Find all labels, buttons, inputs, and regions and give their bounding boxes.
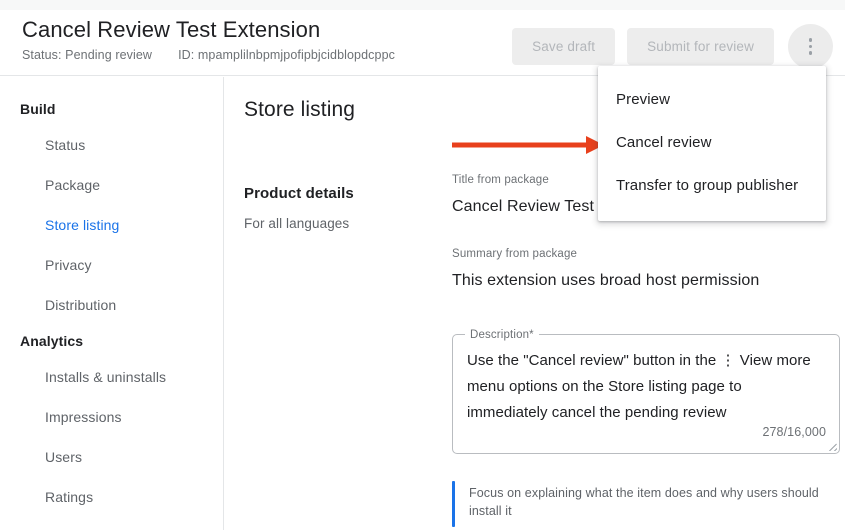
sidebar-item-impressions[interactable]: Impressions	[0, 397, 223, 437]
sidebar-item-distribution[interactable]: Distribution	[0, 285, 223, 325]
sidebar-item-installs-uninstalls[interactable]: Installs & uninstalls	[0, 357, 223, 397]
sidebar-section-title-analytics: Analytics	[0, 325, 223, 357]
product-details-column: Product details For all languages	[244, 183, 434, 233]
save-draft-button[interactable]: Save draft	[512, 28, 615, 65]
dot	[809, 45, 813, 49]
sidebar-item-users[interactable]: Users	[0, 437, 223, 477]
product-details-fields: Title from package Cancel Review Test Ex…	[452, 172, 832, 527]
description-hint: Focus on explaining what the item does a…	[452, 481, 840, 527]
status-badge: Status: Pending review	[22, 47, 152, 64]
sidebar-item-package[interactable]: Package	[0, 165, 223, 205]
submit-for-review-button[interactable]: Submit for review	[627, 28, 774, 65]
summary-from-package-label: Summary from package	[452, 246, 832, 262]
dot	[809, 51, 813, 55]
hint-text: Focus on explaining what the item does a…	[469, 481, 840, 527]
view-more-options-menu: Preview Cancel review Transfer to group …	[598, 66, 826, 221]
resize-handle-icon[interactable]	[827, 441, 837, 451]
extension-dashboard-page: Cancel Review Test Extension Status: Pen…	[0, 0, 845, 530]
sidebar-section-build: Build Status Package Store listing Priva…	[0, 93, 223, 325]
sidebar-section-analytics: Analytics Installs & uninstalls Impressi…	[0, 325, 223, 517]
more-options-icon[interactable]	[788, 24, 833, 69]
header-title-group: Cancel Review Test Extension Status: Pen…	[22, 16, 395, 64]
description-field[interactable]: Description* Use the "Cancel review" but…	[452, 334, 840, 454]
page-title: Cancel Review Test Extension	[22, 16, 395, 44]
menu-item-preview[interactable]: Preview	[598, 78, 826, 121]
sidebar-item-status[interactable]: Status	[0, 125, 223, 165]
description-label: Description*	[465, 327, 539, 343]
product-details-label: Product details	[244, 183, 434, 204]
header-subline: Status: Pending review ID: mpamplilnbpmj…	[22, 47, 395, 64]
sidebar-section-title-build: Build	[0, 93, 223, 125]
summary-from-package-field: Summary from package This extension uses…	[452, 246, 832, 292]
menu-item-transfer-to-group-publisher[interactable]: Transfer to group publisher	[598, 164, 826, 207]
store-listing-heading: Store listing	[244, 96, 355, 124]
sidebar-item-ratings[interactable]: Ratings	[0, 477, 223, 517]
dot	[809, 38, 813, 42]
extension-id: ID: mpamplilnbpmjpofipbjcidblopdcppc	[178, 47, 395, 64]
menu-item-cancel-review[interactable]: Cancel review	[598, 121, 826, 164]
sidebar-item-privacy[interactable]: Privacy	[0, 245, 223, 285]
sidebar-nav: Build Status Package Store listing Priva…	[0, 77, 224, 530]
product-details-sublabel: For all languages	[244, 214, 434, 233]
description-input[interactable]: Use the "Cancel review" button in the ⋮ …	[467, 348, 819, 426]
browser-top-strip	[0, 0, 845, 10]
sidebar-item-store-listing[interactable]: Store listing	[0, 205, 223, 245]
summary-from-package-value: This extension uses broad host permissio…	[452, 270, 832, 292]
description-character-counter: 278/16,000	[762, 424, 826, 441]
hint-accent-bar	[452, 481, 455, 527]
header-actions: Save draft Submit for review	[512, 24, 833, 69]
